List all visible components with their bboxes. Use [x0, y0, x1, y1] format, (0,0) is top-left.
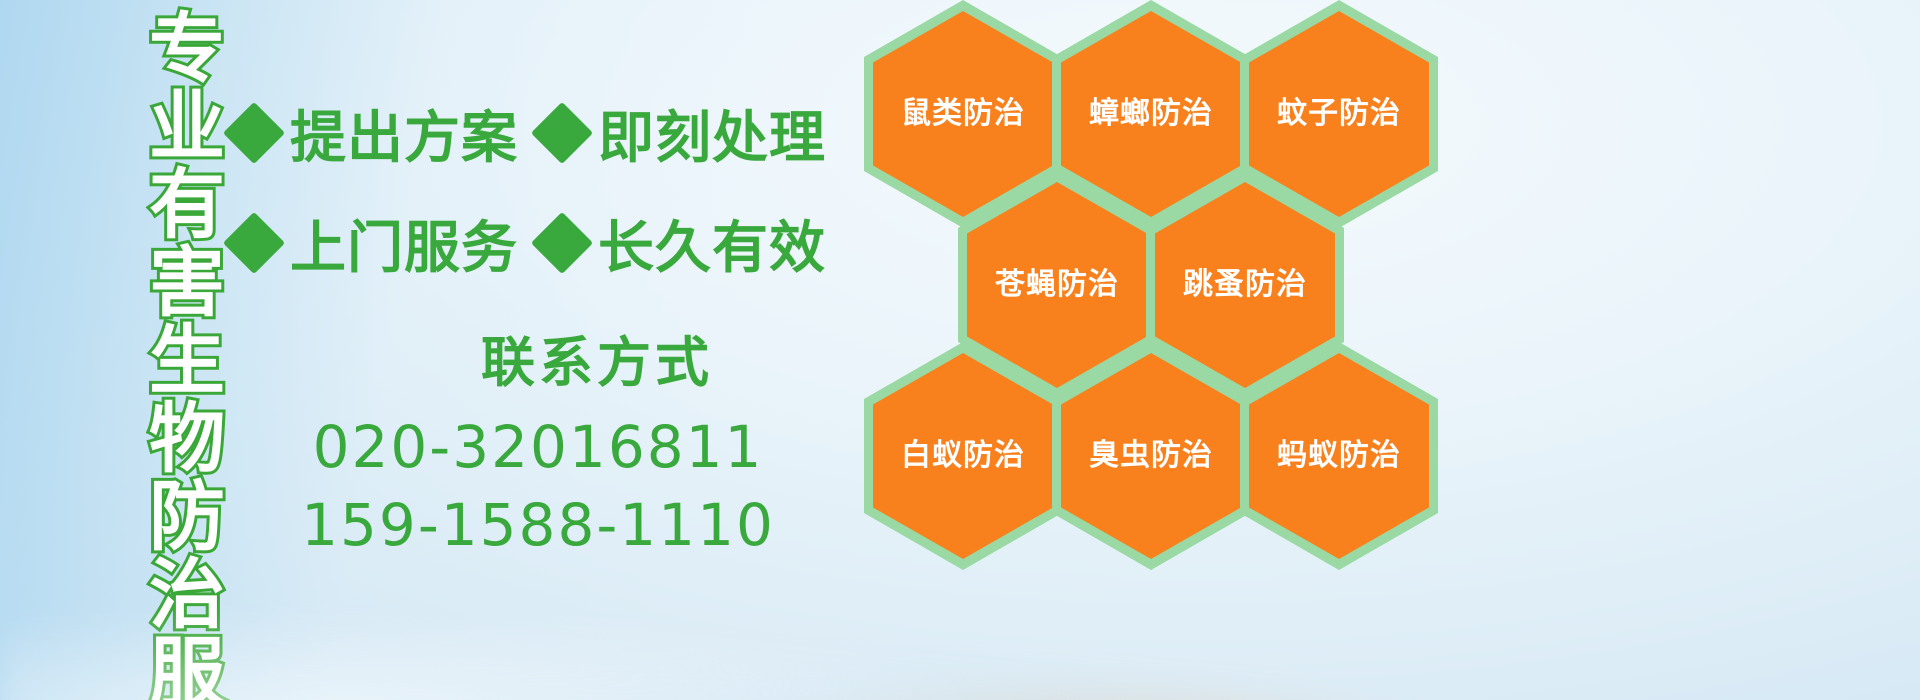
- feature-label: 上门服务: [290, 203, 518, 284]
- banner-root: 专业有害生物防治服务 提出方案 即刻处理 上门服务 长久有效 联系方式 0: [0, 0, 1920, 700]
- service-label: 蚂蚁防治: [1277, 441, 1401, 471]
- diamond-icon: [531, 212, 593, 274]
- service-hex-ant[interactable]: 蚂蚁防治: [1240, 342, 1438, 570]
- service-label: 苍蝇防治: [995, 270, 1119, 300]
- service-label: 蟑螂防治: [1089, 99, 1213, 129]
- contact-block: 联系方式 020-32016811 159-1588-1110: [258, 318, 818, 559]
- service-label: 蚊子防治: [1277, 99, 1401, 129]
- service-label: 跳蚤防治: [1183, 270, 1307, 300]
- contact-phone-landline[interactable]: 020-32016811: [258, 413, 818, 481]
- service-label: 鼠类防治: [901, 99, 1025, 129]
- feature-item: 长久有效: [540, 203, 826, 284]
- contact-title: 联系方式: [376, 318, 818, 397]
- feature-row: 提出方案 即刻处理: [232, 78, 872, 188]
- feature-item: 上门服务: [232, 203, 518, 284]
- service-hex-bedbug[interactable]: 臭虫防治: [1052, 342, 1250, 570]
- diamond-icon: [223, 102, 285, 164]
- diamond-icon: [223, 212, 285, 274]
- vertical-headline: 专业有害生物防治服务: [108, 8, 218, 700]
- feature-item: 即刻处理: [540, 93, 826, 174]
- service-honeycomb: 鼠类防治 蟑螂防治 蚊子防治 苍蝇防治 跳蚤防治: [852, 0, 1492, 592]
- contact-phone-mobile[interactable]: 159-1588-1110: [258, 491, 818, 559]
- service-label: 臭虫防治: [1089, 441, 1213, 471]
- feature-item: 提出方案: [232, 93, 518, 174]
- feature-list: 提出方案 即刻处理 上门服务 长久有效: [232, 78, 872, 298]
- feature-label: 长久有效: [598, 203, 826, 284]
- service-label: 白蚁防治: [901, 441, 1025, 471]
- feature-row: 上门服务 长久有效: [232, 188, 872, 298]
- service-hex-termite[interactable]: 白蚁防治: [864, 342, 1062, 570]
- feature-label: 提出方案: [290, 93, 518, 174]
- diamond-icon: [531, 102, 593, 164]
- feature-label: 即刻处理: [598, 93, 826, 174]
